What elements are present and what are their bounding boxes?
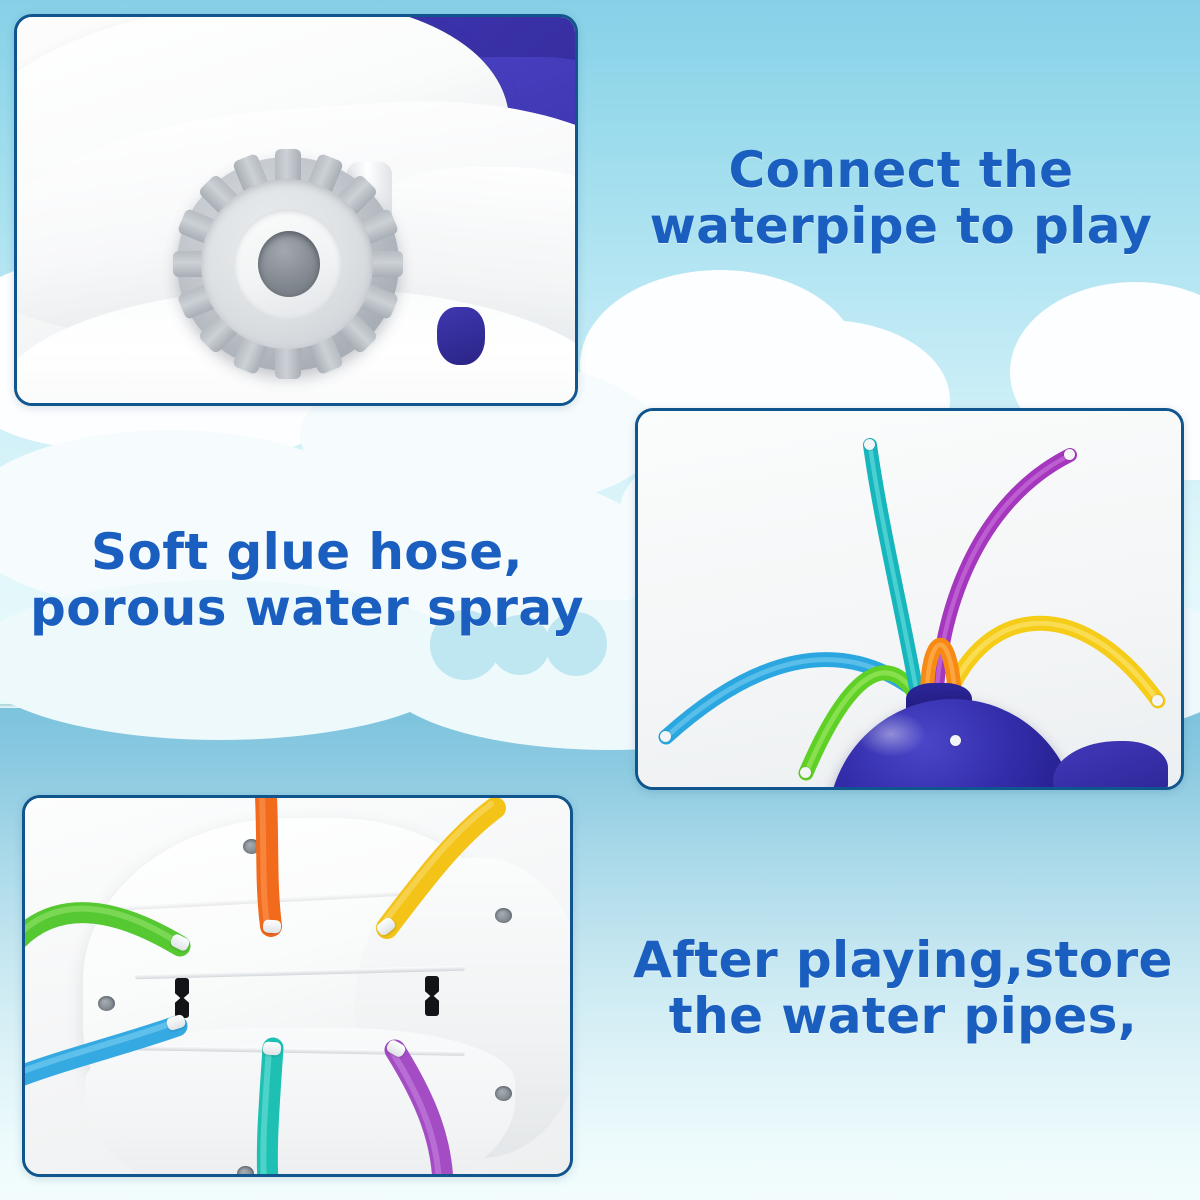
water-inlet-hole: [258, 231, 320, 297]
callout-line: porous water spray: [18, 580, 596, 636]
hose-tip: [1152, 695, 1163, 706]
nut-washer: [234, 209, 342, 319]
hose-yellow: [943, 623, 1158, 711]
hose-tip: [1064, 449, 1075, 460]
stored-hose-yellow: [387, 808, 495, 928]
stored-hose-blue: [25, 1026, 177, 1080]
toy-blue-foot: [437, 307, 485, 365]
hose-tip: [950, 735, 961, 746]
callout-line: After playing,store: [612, 932, 1194, 988]
hose-connector-photo-panel[interactable]: [14, 14, 578, 406]
hose-storage-image: [25, 798, 570, 1174]
callout-line: waterpipe to play: [612, 198, 1190, 254]
callout-line: Connect the: [612, 142, 1190, 198]
after-playing-store-callout: After playing,store the water pipes,: [612, 932, 1194, 1044]
callout-line: Soft glue hose,: [18, 524, 596, 580]
stored-hose-group: [25, 798, 570, 1174]
hose-end-cap: [263, 919, 282, 933]
hose-end-cap: [263, 1041, 282, 1055]
soft-glue-hose-callout: Soft glue hose, porous water spray: [18, 524, 596, 636]
hose-connector-nut: [177, 157, 399, 371]
infographic-canvas: Connect the waterpipe to play Soft glue …: [0, 0, 1200, 1200]
spraying-hoses-image: [638, 411, 1181, 787]
hose-tip: [864, 439, 875, 450]
hose-storage-slots-photo-panel[interactable]: [22, 795, 573, 1177]
nut-face: [201, 179, 373, 349]
hose-tip: [800, 767, 811, 778]
callout-line: the water pipes,: [612, 988, 1194, 1044]
dome-highlight: [856, 711, 926, 757]
connect-the-waterpipe-callout: Connect the waterpipe to play: [612, 142, 1190, 254]
hose-tip: [660, 731, 671, 742]
spraying-hoses-photo-panel[interactable]: [635, 408, 1184, 790]
hose-connector-image: [17, 17, 575, 403]
